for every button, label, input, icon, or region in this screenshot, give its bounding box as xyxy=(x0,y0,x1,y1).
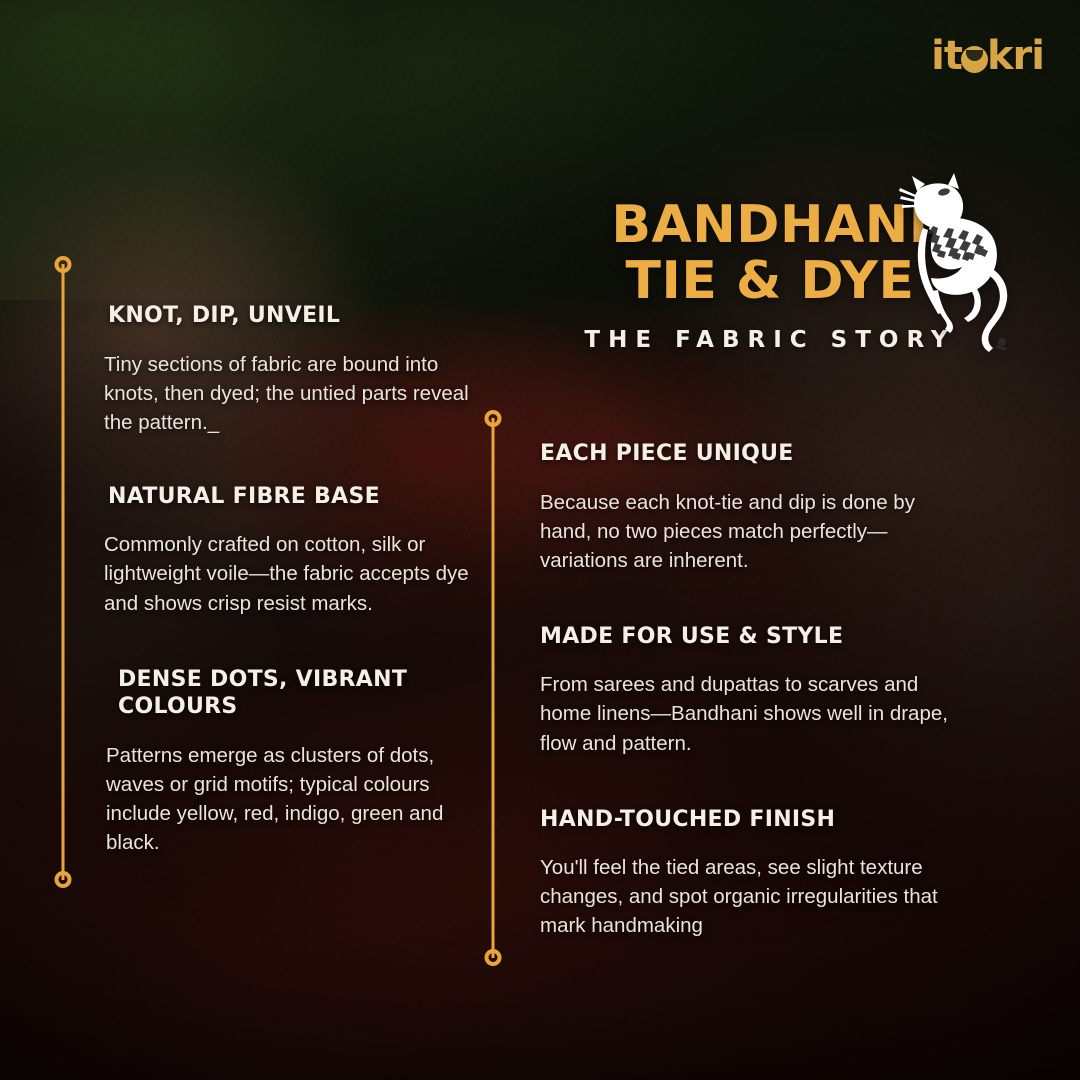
fact-block: EACH PIECE UNIQUE Because each knot-tie … xyxy=(540,440,950,575)
fact-body: Tiny sections of fabric are bound into k… xyxy=(104,350,474,437)
rail-right-stem xyxy=(491,418,494,958)
fact-body: Commonly crafted on cotton, silk or ligh… xyxy=(104,530,474,617)
brand-logo-text-left: it xyxy=(931,33,962,79)
rail-left-node-bottom xyxy=(54,871,71,888)
fact-heading: KNOT, DIP, UNVEIL xyxy=(108,302,474,330)
fact-heading: MADE FOR USE & STYLE xyxy=(540,623,950,651)
fact-body: From sarees and dupattas to scarves and … xyxy=(540,670,950,757)
page-title-line-1: BANDHANI xyxy=(611,195,928,255)
fact-block: DENSE DOTS, VIBRANT COLOURS Patterns eme… xyxy=(104,666,474,857)
infographic-poster: itkri BANDHANI TIE & DYE THE FABRIC STOR… xyxy=(0,0,1080,1080)
left-text-column: KNOT, DIP, UNVEIL Tiny sections of fabri… xyxy=(104,302,474,857)
connector-rail-right xyxy=(484,410,501,966)
brand-logo-o-icon xyxy=(961,46,988,73)
right-text-column: EACH PIECE UNIQUE Because each knot-tie … xyxy=(540,440,950,940)
fact-heading: HAND-TOUCHED FINISH xyxy=(540,806,950,834)
rail-left-stem xyxy=(61,264,64,880)
fact-body: Because each knot-tie and dip is done by… xyxy=(540,488,950,575)
brand-logo[interactable]: itkri xyxy=(931,36,1044,76)
connector-rail-left xyxy=(54,256,71,888)
fact-body: You'll feel the tied areas, see slight t… xyxy=(540,853,950,940)
fact-heading: NATURAL FIBRE BASE xyxy=(108,483,474,511)
brand-logo-text-right: kri xyxy=(987,33,1044,79)
fact-body: Patterns emerge as clusters of dots, wav… xyxy=(106,741,474,857)
fact-block: NATURAL FIBRE BASE Commonly crafted on c… xyxy=(104,483,474,618)
fact-heading: DENSE DOTS, VIBRANT COLOURS xyxy=(118,666,474,721)
cat-illustration-icon xyxy=(898,172,1014,354)
fact-heading: EACH PIECE UNIQUE xyxy=(540,440,950,468)
fact-block: HAND-TOUCHED FINISH You'll feel the tied… xyxy=(540,806,950,941)
fact-block: KNOT, DIP, UNVEIL Tiny sections of fabri… xyxy=(104,302,474,437)
fact-block: MADE FOR USE & STYLE From sarees and dup… xyxy=(540,623,950,758)
rail-right-node-bottom xyxy=(484,949,501,966)
